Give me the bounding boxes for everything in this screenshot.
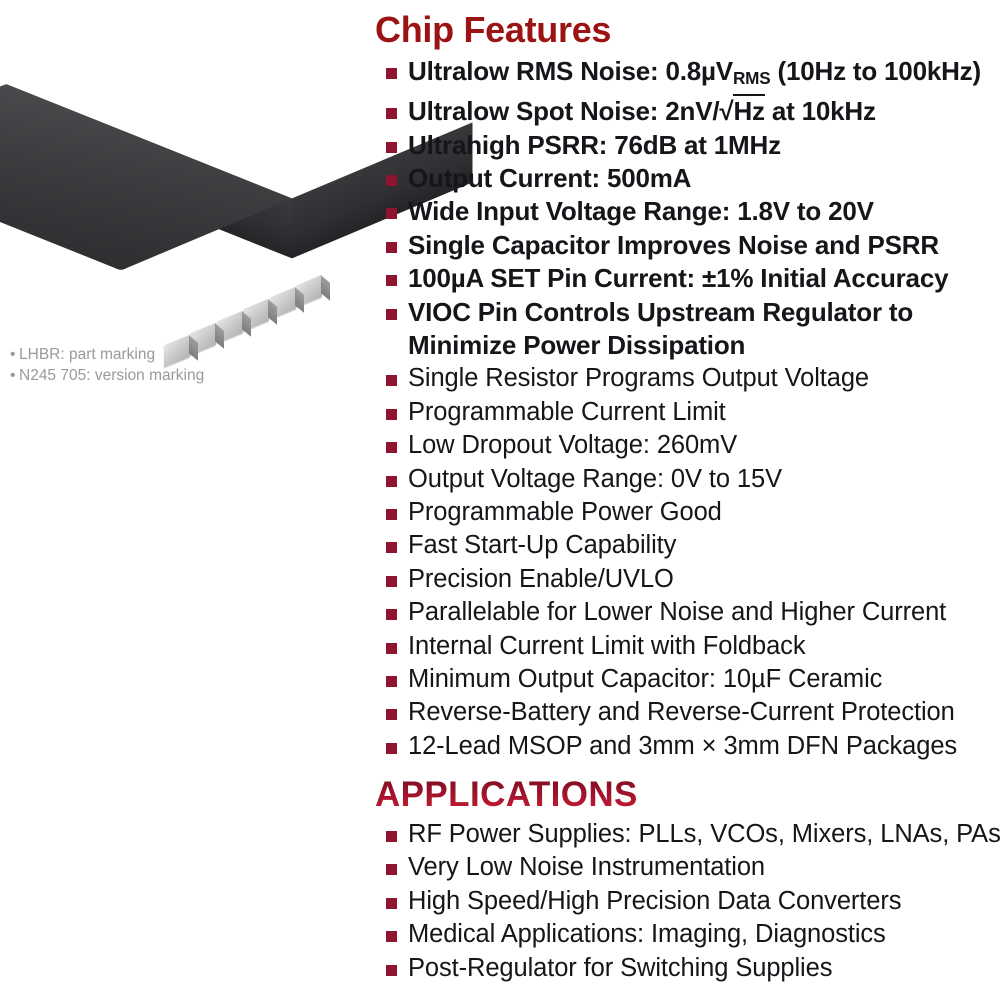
feature-item: Output Current: 500mA [372,162,997,195]
square-bullet-icon [386,576,397,587]
feature-item-label: Output Current: 500mA [408,163,691,193]
subscript-text: RMS [733,68,771,88]
feature-item-label: Single Resistor Programs Output Voltage [408,364,869,392]
square-bullet-icon [386,609,397,620]
square-bullet-icon [386,309,397,320]
chip-features-list: Ultralow RMS Noise: 0.8µVRMS (10Hz to 10… [372,55,997,763]
square-bullet-icon [386,542,397,553]
application-item-label: Very Low Noise Instrumentation [408,853,765,881]
feature-item-label: Output Voltage Range: 0V to 15V [408,465,782,493]
feature-item-label: Wide Input Voltage Range: 1.8V to 20V [408,196,874,226]
feature-item-label: Single Capacitor Improves Noise and PSRR [408,230,939,260]
feature-item-label: 100µA SET Pin Current: ±1% Initial Accur… [408,263,948,293]
feature-item: Ultralow Spot Noise: 2nV/√Hz at 10kHz [372,95,997,128]
feature-item: VIOC Pin Controls Upstream Regulator to … [372,296,997,363]
radical-overline: Hz [733,94,764,126]
application-item-label: Medical Applications: Imaging, Diagnosti… [408,920,886,948]
feature-item: Programmable Current Limit [372,396,997,429]
content-column: Chip Features Ultralow RMS Noise: 0.8µVR… [372,0,1000,1000]
feature-item-label: Fast Start-Up Capability [408,531,676,559]
square-bullet-icon [386,831,397,842]
feature-item: Reverse-Battery and Reverse-Current Prot… [372,696,997,729]
square-bullet-icon [386,643,397,654]
square-bullet-icon [386,931,397,942]
feature-item: Fast Start-Up Capability [372,529,997,562]
application-item: Post-Regulator for Switching Supplies [372,952,997,985]
feature-item-label: Ultrahigh PSRR: 76dB at 1MHz [408,130,781,160]
feature-item-label: VIOC Pin Controls Upstream Regulator to … [408,297,913,360]
caption-text: LHBR: part marking [19,346,155,363]
feature-item-label: Low Dropout Voltage: 260mV [408,431,737,459]
feature-item-label: Minimum Output Capacitor: 10µF Ceramic [408,665,882,693]
feature-item: Output Voltage Range: 0V to 15V [372,463,997,496]
feature-item-label: Ultralow RMS Noise: 0.8µVRMS (10Hz to 10… [408,56,981,86]
feature-item: Programmable Power Good [372,496,997,529]
feature-item: 12-Lead MSOP and 3mm × 3mm DFN Packages [372,730,997,763]
application-item: Very Low Noise Instrumentation [372,851,997,884]
feature-item-label: Programmable Current Limit [408,398,726,426]
feature-item: Wide Input Voltage Range: 1.8V to 20V [372,195,997,228]
applications-title: APPLICATIONS [375,777,638,812]
chip-solder-pad-side [321,275,330,301]
application-item: RF Power Supplies: PLLs, VCOs, Mixers, L… [372,818,997,851]
dfn-package-figure [0,62,380,332]
chip-marking-caption: •LHBR: part marking •N245 705: version m… [10,344,350,386]
chip-top-face [0,84,292,270]
feature-item: Precision Enable/UVLO [372,563,997,596]
caption-bullet-icon: • [10,365,19,386]
feature-item: Single Resistor Programs Output Voltage [372,362,997,395]
applications-title-text: APPLICATIONS [375,777,638,812]
chip-image-column: •LHBR: part marking •N245 705: version m… [0,0,372,1000]
square-bullet-icon [386,409,397,420]
application-item-label: Post-Regulator for Switching Supplies [408,954,832,982]
datasheet-page: •LHBR: part marking •N245 705: version m… [0,0,1000,1000]
square-bullet-icon [386,442,397,453]
application-item: High Speed/High Precision Data Converter… [372,885,997,918]
caption-bullet-icon: • [10,344,19,365]
feature-item: Ultralow RMS Noise: 0.8µVRMS (10Hz to 10… [372,55,997,95]
feature-item: Minimum Output Capacitor: 10µF Ceramic [372,663,997,696]
square-bullet-icon [386,68,397,79]
square-bullet-icon [386,709,397,720]
square-bullet-icon [386,375,397,386]
square-bullet-icon [386,108,397,119]
feature-item-label: Parallelable for Lower Noise and Higher … [408,598,946,626]
application-item-label: High Speed/High Precision Data Converter… [408,887,901,915]
chip-illustration [0,62,380,332]
application-item-label: RF Power Supplies: PLLs, VCOs, Mixers, L… [408,820,1000,848]
square-bullet-icon [386,898,397,909]
caption-line: •N245 705: version marking [10,365,350,386]
caption-text: N245 705: version marking [19,367,204,384]
feature-item: Ultrahigh PSRR: 76dB at 1MHz [372,129,997,162]
square-bullet-icon [386,743,397,754]
feature-item-label: Reverse-Battery and Reverse-Current Prot… [408,698,955,726]
square-bullet-icon [386,965,397,976]
square-bullet-icon [386,175,397,186]
square-bullet-icon [386,275,397,286]
feature-item: Low Dropout Voltage: 260mV [372,429,997,462]
feature-item: 100µA SET Pin Current: ±1% Initial Accur… [372,262,997,295]
square-bullet-icon [386,242,397,253]
feature-item-label: Internal Current Limit with Foldback [408,632,805,660]
feature-item-label: Ultralow Spot Noise: 2nV/√Hz at 10kHz [408,94,876,126]
feature-item: Internal Current Limit with Foldback [372,630,997,663]
applications-list: RF Power Supplies: PLLs, VCOs, Mixers, L… [372,818,997,985]
feature-item: Parallelable for Lower Noise and Higher … [372,596,997,629]
chip-features-title: Chip Features [375,12,611,48]
feature-item-label: 12-Lead MSOP and 3mm × 3mm DFN Packages [408,732,957,760]
application-item: Medical Applications: Imaging, Diagnosti… [372,918,997,951]
square-bullet-icon [386,676,397,687]
feature-item: Single Capacitor Improves Noise and PSRR [372,229,997,262]
feature-item-label: Programmable Power Good [408,498,722,526]
caption-line: •LHBR: part marking [10,344,350,365]
square-bullet-icon [386,864,397,875]
feature-item-label: Precision Enable/UVLO [408,565,674,593]
square-bullet-icon [386,509,397,520]
square-bullet-icon [386,142,397,153]
square-bullet-icon [386,476,397,487]
square-bullet-icon [386,208,397,219]
